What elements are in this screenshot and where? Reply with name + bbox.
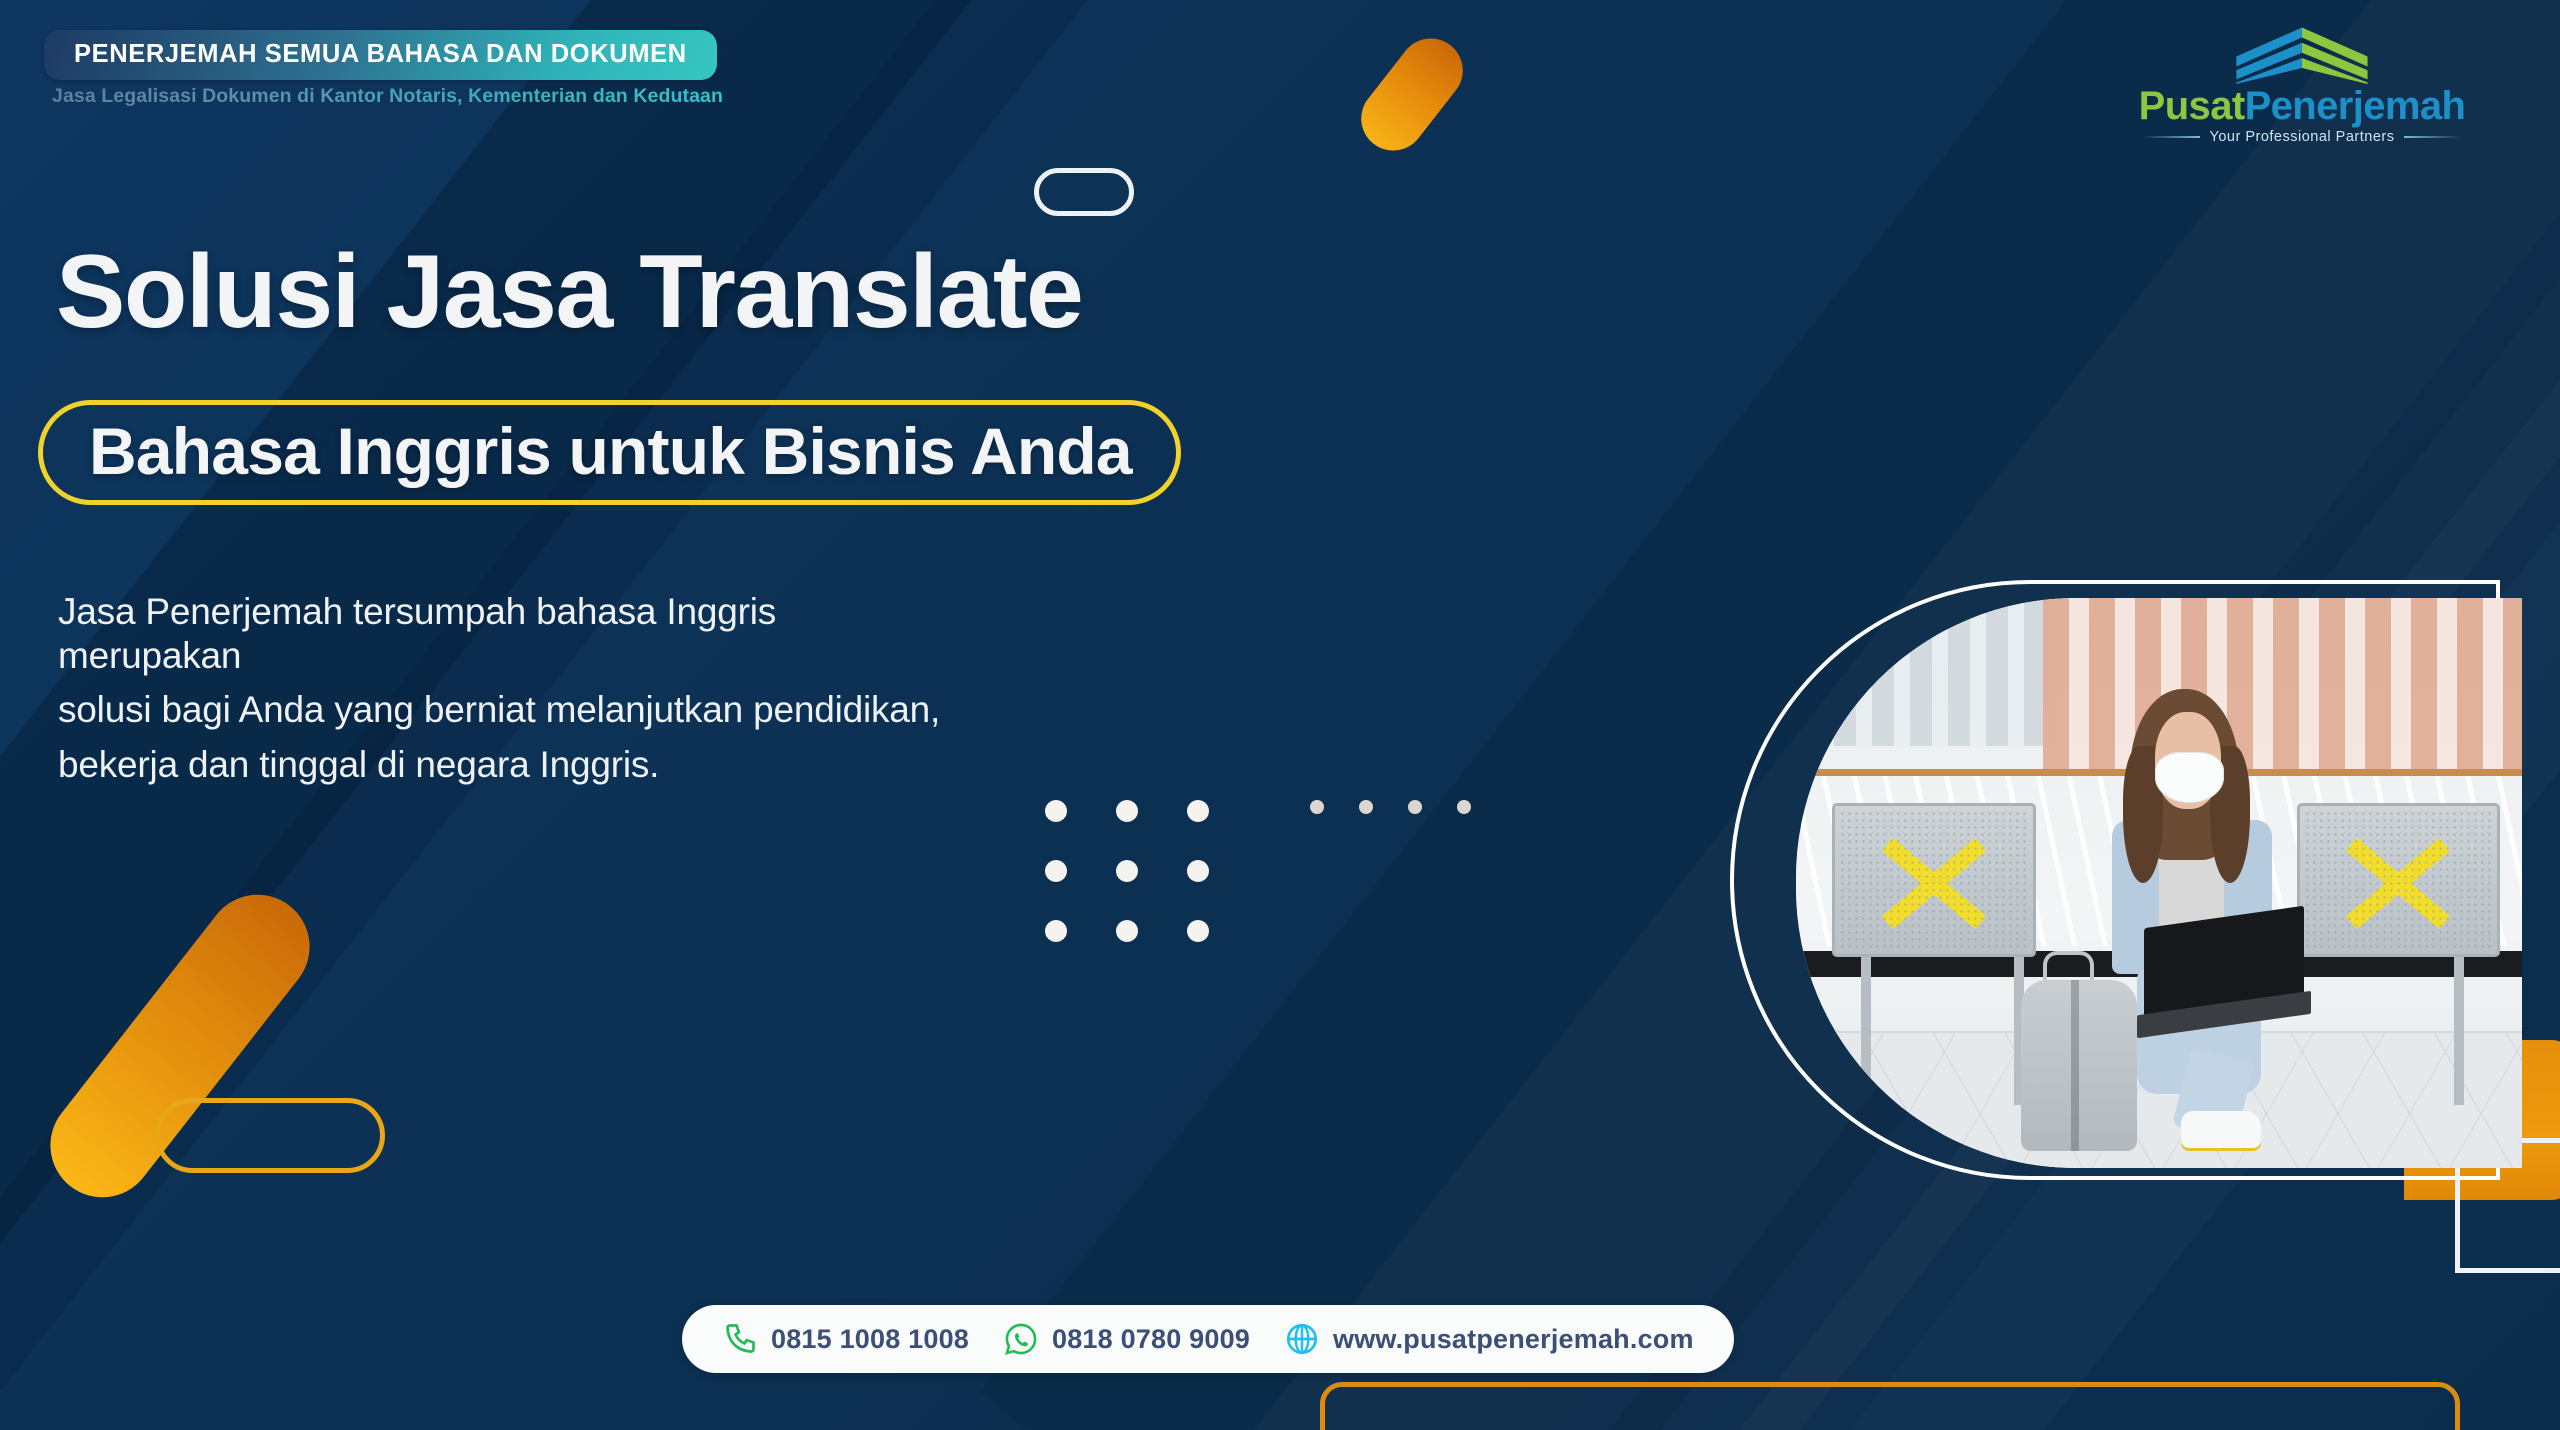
hero-headline: Solusi Jasa Translate bbox=[56, 240, 1082, 344]
logo-rule-right bbox=[2404, 136, 2462, 138]
dot bbox=[1045, 920, 1067, 942]
whatsapp-icon bbox=[1003, 1321, 1039, 1357]
contact-website[interactable]: www.pusatpenerjemah.com bbox=[1284, 1321, 1694, 1357]
building-chevron-logo-icon bbox=[2218, 26, 2386, 84]
hero-photo bbox=[1796, 598, 2522, 1168]
logo-tagline-row: Your Professional Partners bbox=[2102, 129, 2502, 145]
dot bbox=[1116, 920, 1138, 942]
orange-frame-bottom-decoration bbox=[1320, 1382, 2460, 1430]
phone-icon bbox=[722, 1321, 758, 1357]
logo-word-primary: Pusat bbox=[2139, 84, 2245, 128]
photo-bench-leg bbox=[2454, 957, 2464, 1105]
contact-phone[interactable]: 0815 1008 1008 bbox=[722, 1321, 969, 1357]
logo-rule-left bbox=[2142, 136, 2200, 138]
dot bbox=[1187, 920, 1209, 942]
logo-wordmark: PusatPenerjemah bbox=[2102, 86, 2502, 126]
dot bbox=[1408, 800, 1422, 814]
contact-website-label: www.pusatpenerjemah.com bbox=[1333, 1324, 1694, 1355]
dot-line-decoration bbox=[1310, 800, 1471, 814]
dot bbox=[1116, 800, 1138, 822]
x-mark-icon bbox=[2337, 834, 2459, 926]
photo-seat-right bbox=[2297, 803, 2500, 957]
photo-building-left bbox=[1796, 598, 2057, 746]
photo-seat-left bbox=[1832, 803, 2035, 957]
dot-grid-decoration bbox=[1045, 800, 1209, 980]
hero-subheadline-pill: Bahasa Inggris untuk Bisnis Anda bbox=[38, 400, 1181, 505]
body-line: bekerja dan tinggal di negara Inggris. bbox=[58, 743, 958, 787]
photo-building-right bbox=[2043, 598, 2522, 769]
dot bbox=[1457, 800, 1471, 814]
dot-row bbox=[1045, 860, 1209, 882]
hero-subheadline: Bahasa Inggris untuk Bisnis Anda bbox=[89, 418, 1132, 484]
header-badge-subtitle: Jasa Legalisasi Dokumen di Kantor Notari… bbox=[44, 85, 723, 108]
brand-logo[interactable]: PusatPenerjemah Your Professional Partne… bbox=[2102, 26, 2502, 136]
dot bbox=[1310, 800, 1324, 814]
logo-word-secondary: Penerjemah bbox=[2245, 84, 2466, 128]
dot bbox=[1359, 800, 1373, 814]
globe-icon bbox=[1284, 1321, 1320, 1357]
x-mark-icon bbox=[1873, 834, 1995, 926]
dot bbox=[1116, 860, 1138, 882]
logo-tagline: Your Professional Partners bbox=[2210, 129, 2395, 145]
dot bbox=[1187, 800, 1209, 822]
header-badge: PENERJEMAH SEMUA BAHASA DAN DOKUMEN bbox=[44, 30, 717, 80]
dot bbox=[1187, 860, 1209, 882]
dot bbox=[1045, 860, 1067, 882]
photo-backpack bbox=[2021, 980, 2137, 1151]
contact-phone-label: 0815 1008 1008 bbox=[771, 1324, 969, 1355]
body-line: solusi bagi Anda yang berniat melanjutka… bbox=[58, 688, 958, 732]
contact-whatsapp-label: 0818 0780 9009 bbox=[1052, 1324, 1250, 1355]
dot bbox=[1045, 800, 1067, 822]
hero-body-copy: Jasa Penerjemah tersumpah bahasa Inggris… bbox=[58, 590, 958, 798]
contact-bar: 0815 1008 1008 0818 0780 9009 www.pusatp… bbox=[682, 1305, 1734, 1373]
header-badge-group: PENERJEMAH SEMUA BAHASA DAN DOKUMEN Jasa… bbox=[44, 30, 723, 108]
photo-person-shoe bbox=[2181, 1111, 2261, 1151]
promo-banner: PENERJEMAH SEMUA BAHASA DAN DOKUMEN Jasa… bbox=[0, 0, 2560, 1430]
white-pill-outline-decoration bbox=[1034, 168, 1134, 216]
photo-bench-leg bbox=[1861, 957, 1871, 1105]
contact-whatsapp[interactable]: 0818 0780 9009 bbox=[1003, 1321, 1250, 1357]
dot-row bbox=[1045, 800, 1209, 822]
body-line: Jasa Penerjemah tersumpah bahasa Inggris… bbox=[58, 590, 958, 677]
orange-pill-outline-decoration bbox=[155, 1098, 385, 1173]
dot-row bbox=[1045, 920, 1209, 942]
